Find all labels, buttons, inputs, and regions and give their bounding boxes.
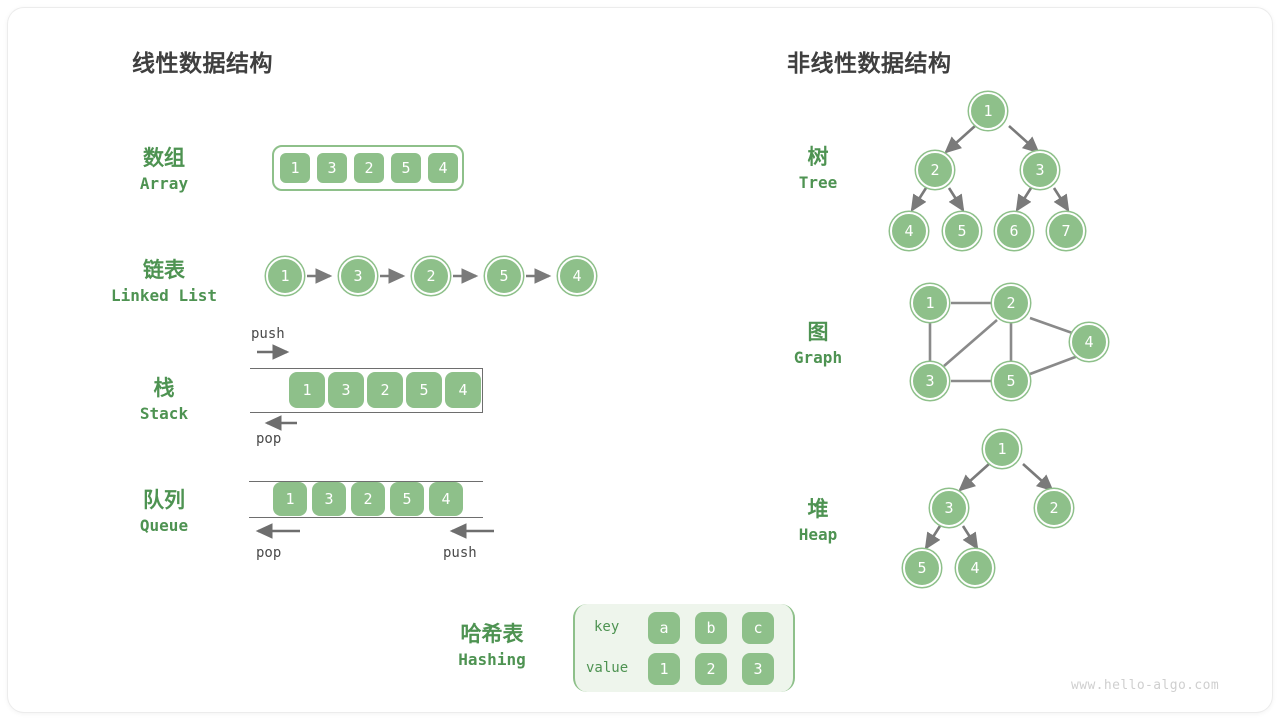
tree-node: 4 [890,212,928,250]
stack-cell: 3 [328,372,364,408]
stack-cell: 1 [289,372,325,408]
label-stack: 栈 Stack [106,374,222,426]
label-hashing-en: Hashing [434,648,550,672]
label-graph-cn: 图 [760,318,876,346]
label-tree: 树 Tree [760,143,876,195]
tree-node: 6 [995,212,1033,250]
stack-cell: 2 [367,372,403,408]
left-column-title: 线性数据结构 [132,44,273,78]
label-queue: 队列 Queue [106,486,222,538]
label-array-en: Array [106,172,222,196]
array-cell: 1 [278,151,312,185]
label-heap-en: Heap [760,523,876,547]
linked-list-node: 5 [485,257,523,295]
label-heap: 堆 Heap [760,495,876,547]
diagram-card: 线性数据结构 数组 Array 1 3 2 5 4 链表 Linked List… [8,8,1272,712]
label-hashing-cn: 哈希表 [434,620,550,648]
heap-node: 2 [1035,489,1073,527]
graph-node: 4 [1070,323,1108,361]
array-cell: 2 [352,151,386,185]
label-queue-cn: 队列 [106,486,222,514]
label-graph-en: Graph [760,346,876,370]
heap-node: 3 [930,489,968,527]
queue-cell: 4 [429,482,463,516]
label-tree-en: Tree [760,171,876,195]
heap-node: 1 [983,430,1021,468]
stack-cell: 4 [445,372,481,408]
linked-list-node: 3 [339,257,377,295]
stack-cell: 5 [406,372,442,408]
queue-rail-bottom [249,517,483,518]
linked-list-node: 1 [266,257,304,295]
array-cell: 3 [315,151,349,185]
heap-node: 4 [956,549,994,587]
queue-cell: 2 [351,482,385,516]
stack-push-label: push [251,326,285,342]
label-array: 数组 Array [106,144,222,196]
label-linked-list: 链表 Linked List [92,256,236,308]
queue-cell: 1 [273,482,307,516]
label-hashing: 哈希表 Hashing [434,620,550,672]
label-tree-cn: 树 [760,143,876,171]
label-heap-cn: 堆 [760,495,876,523]
heap-node: 5 [903,549,941,587]
label-graph: 图 Graph [760,318,876,370]
array-cell: 5 [389,151,423,185]
hash-value-cell: 2 [695,653,727,685]
label-stack-cn: 栈 [106,374,222,402]
watermark: www.hello-algo.com [1071,678,1219,693]
tree-node: 3 [1021,151,1059,189]
label-queue-en: Queue [106,514,222,538]
hash-value-label: value [586,660,628,676]
array-cell: 4 [426,151,460,185]
tree-node: 5 [943,212,981,250]
label-stack-en: Stack [106,402,222,426]
tree-node: 1 [969,92,1007,130]
label-array-cn: 数组 [106,144,222,172]
hash-key-cell: c [742,612,774,644]
tree-node: 7 [1047,212,1085,250]
queue-cell: 5 [390,482,424,516]
graph-node: 1 [911,284,949,322]
queue-cell: 3 [312,482,346,516]
queue-pop-label: pop [256,545,281,561]
label-linked-list-cn: 链表 [92,256,236,284]
graph-node: 5 [992,362,1030,400]
label-linked-list-en: Linked List [92,284,236,308]
hash-key-cell: a [648,612,680,644]
hash-key-label: key [594,619,619,635]
tree-node: 2 [916,151,954,189]
graph-node: 3 [911,362,949,400]
linked-list-node: 4 [558,257,596,295]
graph-node: 2 [992,284,1030,322]
linked-list-node: 2 [412,257,450,295]
hash-value-cell: 3 [742,653,774,685]
stack-pop-label: pop [256,431,281,447]
hash-value-cell: 1 [648,653,680,685]
right-column-title: 非线性数据结构 [787,44,952,78]
hash-key-cell: b [695,612,727,644]
queue-push-label: push [443,545,477,561]
